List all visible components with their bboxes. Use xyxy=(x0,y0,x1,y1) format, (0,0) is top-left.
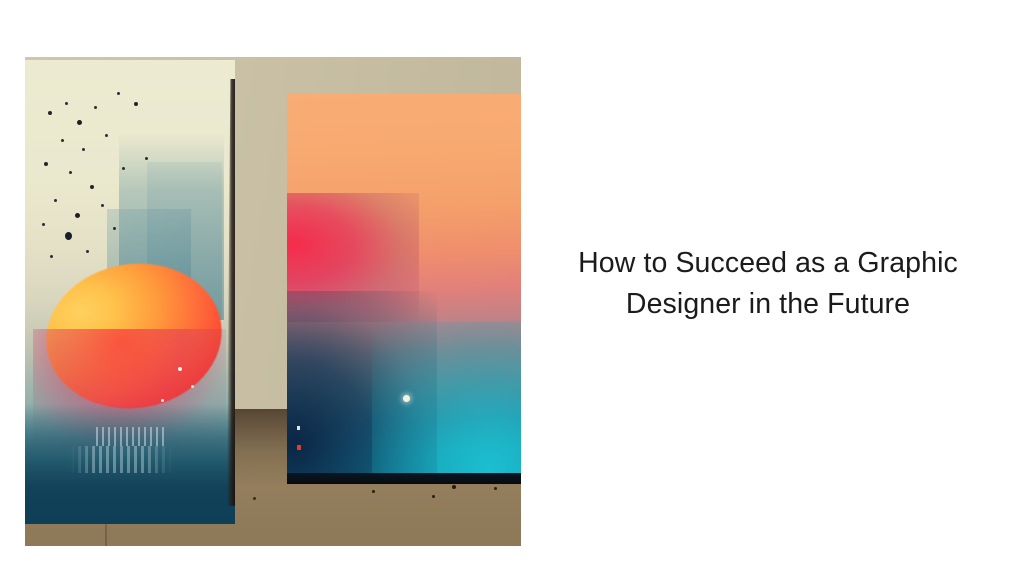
panel-light-speck xyxy=(191,385,194,388)
panel-speck xyxy=(61,139,64,142)
left-canvas-panel xyxy=(25,60,235,525)
right-panel-bottom-edge xyxy=(287,473,521,484)
panel-speck xyxy=(134,102,138,106)
right-canvas-panel xyxy=(287,94,521,473)
white-speck-dot xyxy=(297,426,300,430)
panel-speck xyxy=(65,102,68,105)
panel-speck xyxy=(122,167,125,170)
panel-speck xyxy=(101,204,104,207)
title-block: How to Succeed as a Graphic Designer in … xyxy=(545,243,991,325)
panel-speck xyxy=(65,232,72,240)
floor-speck xyxy=(432,495,435,498)
cyan-glow xyxy=(372,322,521,474)
floor-speck xyxy=(452,485,456,489)
faint-script-marks xyxy=(71,446,201,474)
red-speck-dot xyxy=(297,445,301,450)
panel-speck xyxy=(44,162,48,166)
artwork-scene xyxy=(25,57,521,546)
panel-speck xyxy=(105,134,108,137)
artwork-image xyxy=(25,57,521,546)
panel-speck xyxy=(42,223,45,226)
page-title: How to Succeed as a Graphic Designer in … xyxy=(545,243,991,325)
panel-light-speck xyxy=(178,367,182,371)
panel-speck xyxy=(82,148,85,151)
slide-canvas: How to Succeed as a Graphic Designer in … xyxy=(0,0,1024,577)
floor-speck xyxy=(372,490,375,493)
faint-script-marks-upper xyxy=(96,427,167,446)
